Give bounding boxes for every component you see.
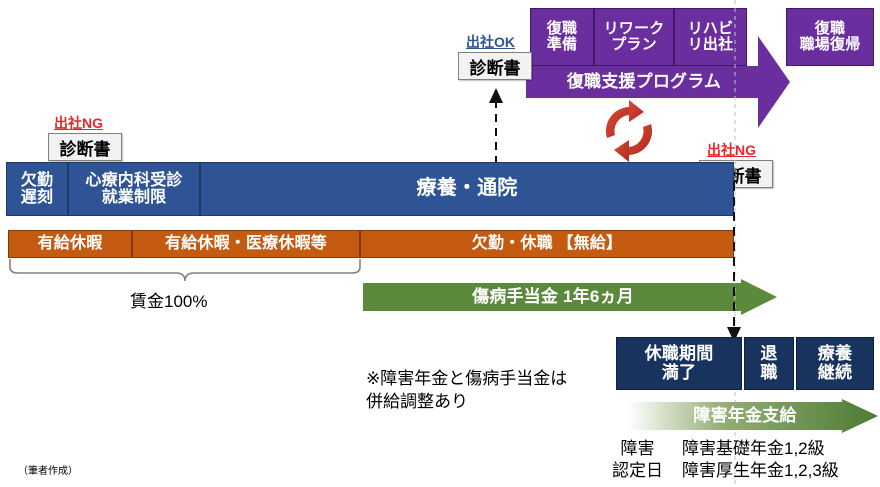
author-credit: （筆者作成）: [18, 462, 78, 477]
program-result-label: 復職 職場復帰: [800, 21, 861, 53]
pay-segment-2: 欠勤・休職 【無給】: [360, 230, 734, 258]
dashed-arrow-down: [725, 182, 743, 344]
callout-center-ok-tag: 出社OK: [466, 32, 515, 52]
program-step-1-label: リワーク プラン: [604, 21, 665, 53]
pension-arrow-label: 障害年金支給: [693, 407, 796, 425]
pension-date-label: 障害 認定日: [612, 438, 663, 482]
status-segment-1: 心療内科受診 就業制限: [68, 162, 200, 216]
status-segment-1-label: 心療内科受診 就業制限: [85, 172, 182, 207]
note-text: ※障害年金と傷病手当金は 併給調整あり: [366, 368, 567, 414]
wage-brace-label: 賃金100%: [130, 287, 207, 312]
program-step-0: 復職 準備: [530, 8, 594, 66]
program-banner-label: 復職支援プログラム: [567, 73, 721, 91]
program-step-1: リワーク プラン: [594, 8, 674, 66]
program-banner-label-wrap: 復職支援プログラム: [530, 66, 758, 98]
outcome-segment-1: 退 職: [744, 337, 794, 390]
benefit-arrow-label: 傷病手当金 1年6ヵ月: [472, 288, 634, 306]
status-segment-2: 療養・通院: [200, 162, 734, 216]
pay-segment-1: 有給休暇・医療休暇等: [132, 230, 360, 258]
benefit-arrow-label-wrap: 傷病手当金 1年6ヵ月: [363, 281, 743, 313]
program-result-box: 復職 職場復帰: [786, 8, 874, 66]
dashed-arrow-up: [480, 86, 512, 164]
callout-left-ng-tag: 出社NG: [54, 113, 103, 133]
status-segment-0-label: 欠勤 遅刻: [21, 172, 53, 207]
pension-grades: 障害基礎年金1,2級 障害厚生年金1,2,3級: [682, 438, 839, 482]
outcome-segment-1-label: 退 職: [760, 345, 777, 382]
program-step-2-label: リハビ リ出社: [688, 21, 734, 53]
callout-left-ng-label: 診断書: [60, 135, 111, 160]
callout-center-ok-label: 診断書: [470, 54, 521, 79]
outcome-segment-0-label: 休職期間 満了: [645, 345, 714, 382]
program-step-0-label: 復職 準備: [547, 21, 577, 53]
outcome-segment-2: 療養 継続: [796, 337, 874, 390]
pay-segment-1-label: 有給休暇・医療休暇等: [165, 235, 327, 252]
pension-arrow-label-wrap: 障害年金支給: [650, 401, 840, 431]
status-segment-2-label: 療養・通院: [417, 178, 518, 200]
pay-segment-0-label: 有給休暇: [38, 235, 103, 252]
pay-segment-0: 有給休暇: [8, 230, 132, 258]
status-segment-0: 欠勤 遅刻: [6, 162, 68, 216]
callout-left-ng-label-box: 診断書: [48, 133, 122, 161]
callout-center-ok-label-box: 診断書: [458, 52, 532, 80]
wage-brace: [8, 259, 362, 283]
pay-segment-2-label: 欠勤・休職 【無給】: [472, 235, 622, 252]
outcome-segment-0: 休職期間 満了: [616, 337, 742, 390]
outcome-segment-2-label: 療養 継続: [818, 345, 852, 382]
circular-arrows-icon: [598, 100, 660, 162]
diagram-canvas: 復職 準備 リワーク プラン リハビ リ出社 復職支援プログラム 復職 職場復帰…: [0, 0, 880, 487]
